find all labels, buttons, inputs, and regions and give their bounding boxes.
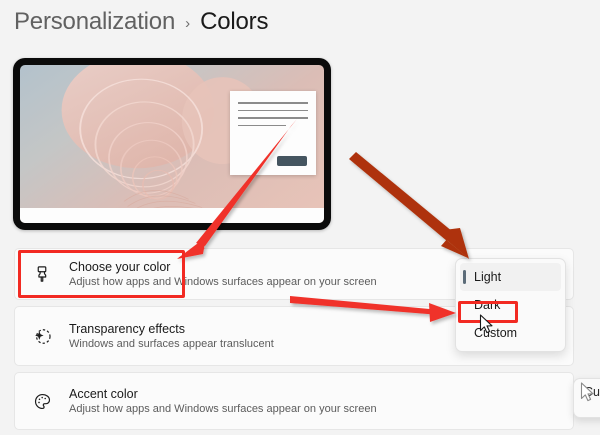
setting-subtitle: Adjust how apps and Windows surfaces app… [69, 276, 377, 288]
setting-title: Transparency effects [69, 322, 274, 336]
setting-subtitle: Adjust how apps and Windows surfaces app… [69, 403, 377, 415]
dropdown-option-light[interactable]: Light [460, 263, 561, 291]
monitor-bezel [13, 58, 331, 230]
desktop-preview [13, 58, 331, 230]
bloom-wallpaper-graphic [26, 65, 263, 223]
partial-dropdown-label: Cus [584, 385, 600, 399]
setting-row-accent-color[interactable]: Accent color Adjust how apps and Windows… [14, 372, 574, 430]
setting-title: Accent color [69, 387, 377, 401]
palette-icon [31, 390, 53, 412]
partial-dropdown-custom[interactable]: Cus [573, 378, 600, 418]
dropdown-option-label: Dark [474, 298, 500, 312]
dropdown-option-custom[interactable]: Custom [460, 319, 561, 347]
preview-window-button [277, 156, 307, 166]
sparkle-icon [31, 325, 53, 347]
preview-window-card [230, 91, 316, 175]
preview-line [238, 102, 308, 104]
preview-line [238, 125, 286, 127]
chevron-right-icon: › [185, 12, 190, 32]
paintbrush-icon [31, 263, 53, 285]
preview-line [238, 110, 308, 112]
page-title: Colors [200, 8, 268, 36]
breadcrumb-parent-link[interactable]: Personalization [14, 8, 175, 36]
breadcrumb: Personalization › Colors [14, 8, 268, 36]
dropdown-option-label: Light [474, 270, 501, 284]
color-mode-dropdown[interactable]: Light Dark Custom [455, 258, 566, 352]
preview-line [238, 117, 308, 119]
preview-screen [20, 65, 324, 223]
preview-taskbar [20, 208, 324, 223]
arrow-to-dropdown-panel [349, 152, 469, 259]
dropdown-option-dark[interactable]: Dark [460, 291, 561, 319]
setting-title: Choose your color [69, 260, 377, 274]
setting-subtitle: Windows and surfaces appear translucent [69, 338, 274, 350]
settings-page: Personalization › Colors [0, 0, 600, 435]
dropdown-option-label: Custom [474, 326, 517, 340]
